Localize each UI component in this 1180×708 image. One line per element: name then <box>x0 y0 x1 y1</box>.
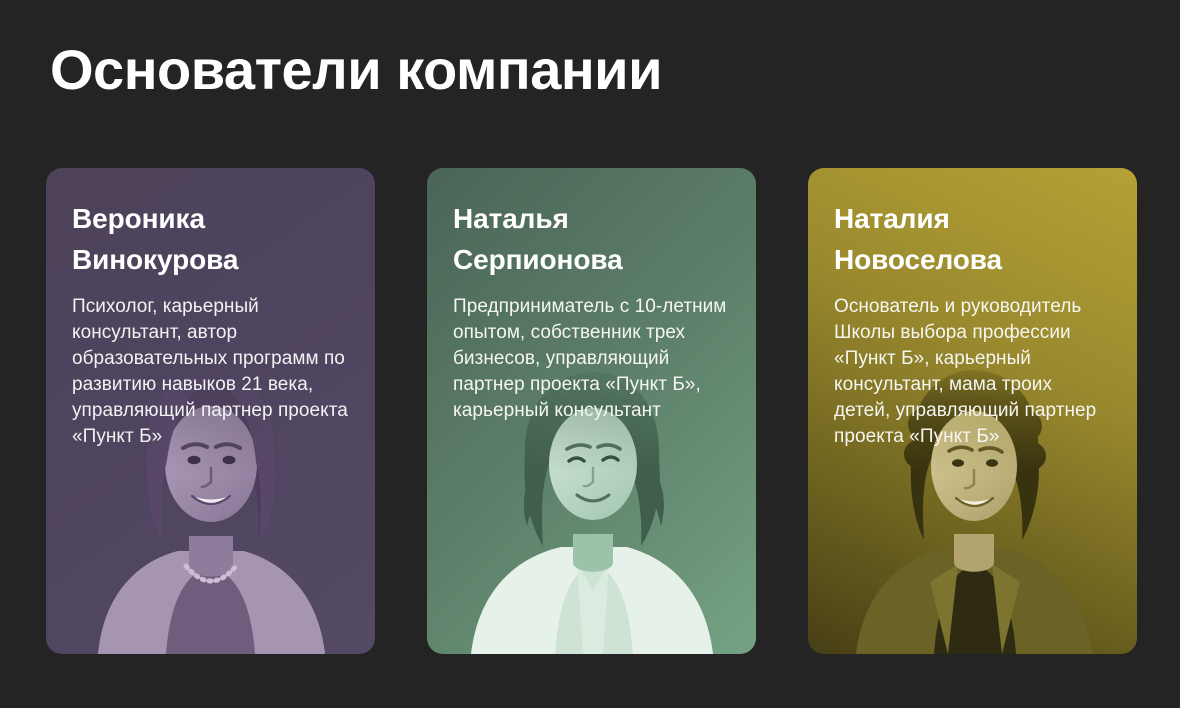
founders-card-list: Вероника Винокурова Психолог, карьерный … <box>46 168 1137 654</box>
founder-name: Наталья Серпионова <box>453 198 730 280</box>
founder-bio: Предприниматель с 10-летним опытом, собс… <box>453 294 730 424</box>
founder-card-natalya-serpionova[interactable]: Наталья Серпионова Предприниматель с 10-… <box>427 168 756 654</box>
founder-card-veronika-vinokurova[interactable]: Вероника Винокурова Психолог, карьерный … <box>46 168 375 654</box>
page-title: Основатели компании <box>50 38 662 102</box>
card-text-block: Вероника Винокурова Психолог, карьерный … <box>46 168 375 450</box>
founder-bio: Основатель и руководитель Школы выбора п… <box>834 294 1111 450</box>
slide-root: Основатели компании <box>0 0 1180 708</box>
card-text-block: Наталья Серпионова Предприниматель с 10-… <box>427 168 756 424</box>
card-text-block: Наталия Новоселова Основатель и руководи… <box>808 168 1137 450</box>
founder-bio: Психолог, карьерный консультант, автор о… <box>72 294 349 450</box>
founder-name: Вероника Винокурова <box>72 198 349 280</box>
founder-card-nataliya-novoselova[interactable]: Наталия Новоселова Основатель и руководи… <box>808 168 1137 654</box>
founder-name: Наталия Новоселова <box>834 198 1111 280</box>
